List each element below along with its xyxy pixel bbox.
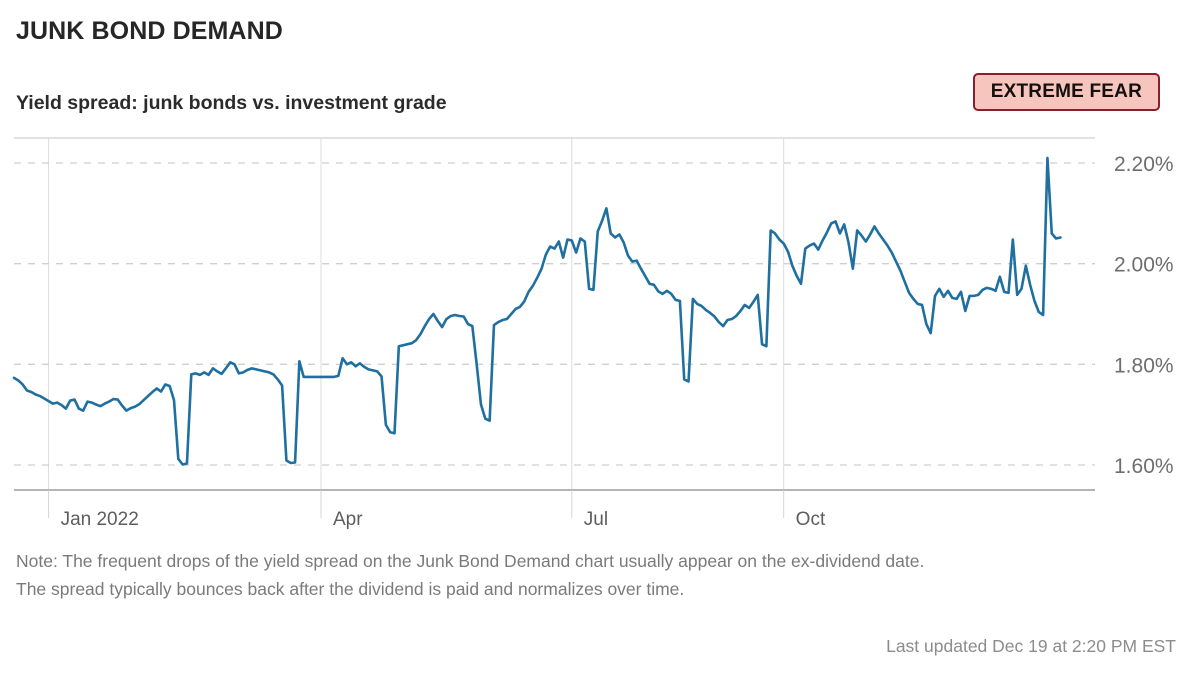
yield-spread-line-chart: 1.60%1.80%2.00%2.20%Jan 2022AprJulOct — [0, 130, 1200, 540]
junk-bond-demand-widget: JUNK BOND DEMAND Yield spread: junk bond… — [0, 0, 1200, 699]
y-axis-tick-label: 1.60% — [1114, 455, 1174, 478]
x-axis-tick-label: Jan 2022 — [61, 509, 139, 530]
chart-container: 1.60%1.80%2.00%2.20%Jan 2022AprJulOct — [0, 130, 1200, 540]
chart-note-line-2: The spread typically bounces back after … — [16, 575, 1176, 603]
status-badge: EXTREME FEAR — [973, 73, 1160, 111]
chart-note: Note: The frequent drops of the yield sp… — [16, 547, 1176, 604]
y-axis-tick-label: 2.00% — [1114, 254, 1174, 277]
y-axis-tick-label: 1.80% — [1114, 354, 1174, 377]
x-axis-tick-label: Jul — [584, 509, 608, 530]
x-axis-tick-label: Apr — [333, 509, 363, 530]
last-updated-timestamp: Last updated Dec 19 at 2:20 PM EST — [886, 636, 1176, 657]
chart-subtitle: Yield spread: junk bonds vs. investment … — [16, 93, 447, 114]
y-axis-tick-label: 2.20% — [1114, 153, 1174, 176]
page-title: JUNK BOND DEMAND — [16, 18, 283, 46]
x-axis-tick-label: Oct — [796, 509, 826, 530]
chart-note-line-1: Note: The frequent drops of the yield sp… — [16, 547, 1176, 575]
yield-spread-line — [14, 158, 1060, 465]
